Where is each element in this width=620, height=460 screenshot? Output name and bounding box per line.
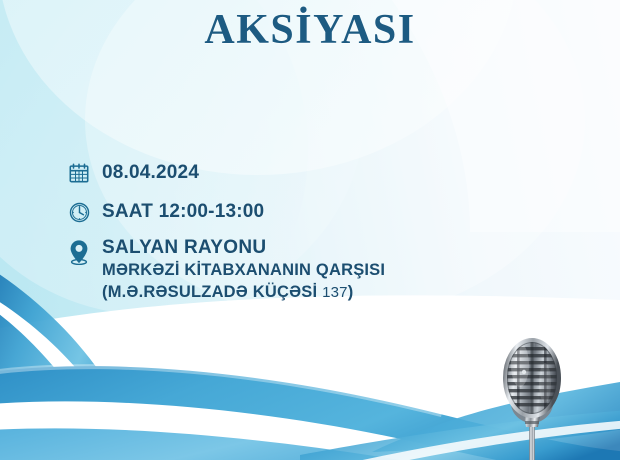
location-street-prefix: (M.Ə.RƏSULZADƏ KÜÇƏSİ <box>102 283 322 301</box>
detail-row-location: SALYAN RAYONU MƏRKƏZİ KİTABXANANIN QARŞI… <box>64 236 484 304</box>
detail-row-date: 08.04.2024 <box>64 158 484 188</box>
location-landmark: MƏRKƏZİ KİTABXANANIN QARŞISI <box>102 259 385 281</box>
calendar-icon <box>64 158 94 188</box>
mic-neck-band <box>525 421 539 424</box>
detail-row-time: SAAT 12:00-13:00 <box>64 197 484 227</box>
event-time-text: SAAT 12:00-13:00 <box>102 197 264 225</box>
mic-stand-pole <box>529 423 535 460</box>
location-pin-icon <box>64 237 94 267</box>
event-details: 08.04.2024 SAAT 12:00-13:00 <box>64 158 484 313</box>
mic-logo-dot <box>522 370 526 374</box>
location-street: (M.Ə.RƏSULZADƏ KÜÇƏSİ 137) <box>102 281 385 304</box>
retro-microphone-graphic <box>487 331 577 460</box>
location-district: SALYAN RAYONU <box>102 236 385 259</box>
event-date-text: 08.04.2024 <box>102 158 199 186</box>
location-street-number: 137 <box>322 284 348 301</box>
clock-icon <box>64 197 94 227</box>
location-text-group: SALYAN RAYONU MƏRKƏZİ KİTABXANANIN QARŞI… <box>102 236 385 304</box>
event-poster: AKSİYASI 08.04.2024 <box>0 0 620 460</box>
location-street-suffix: ) <box>348 283 354 301</box>
